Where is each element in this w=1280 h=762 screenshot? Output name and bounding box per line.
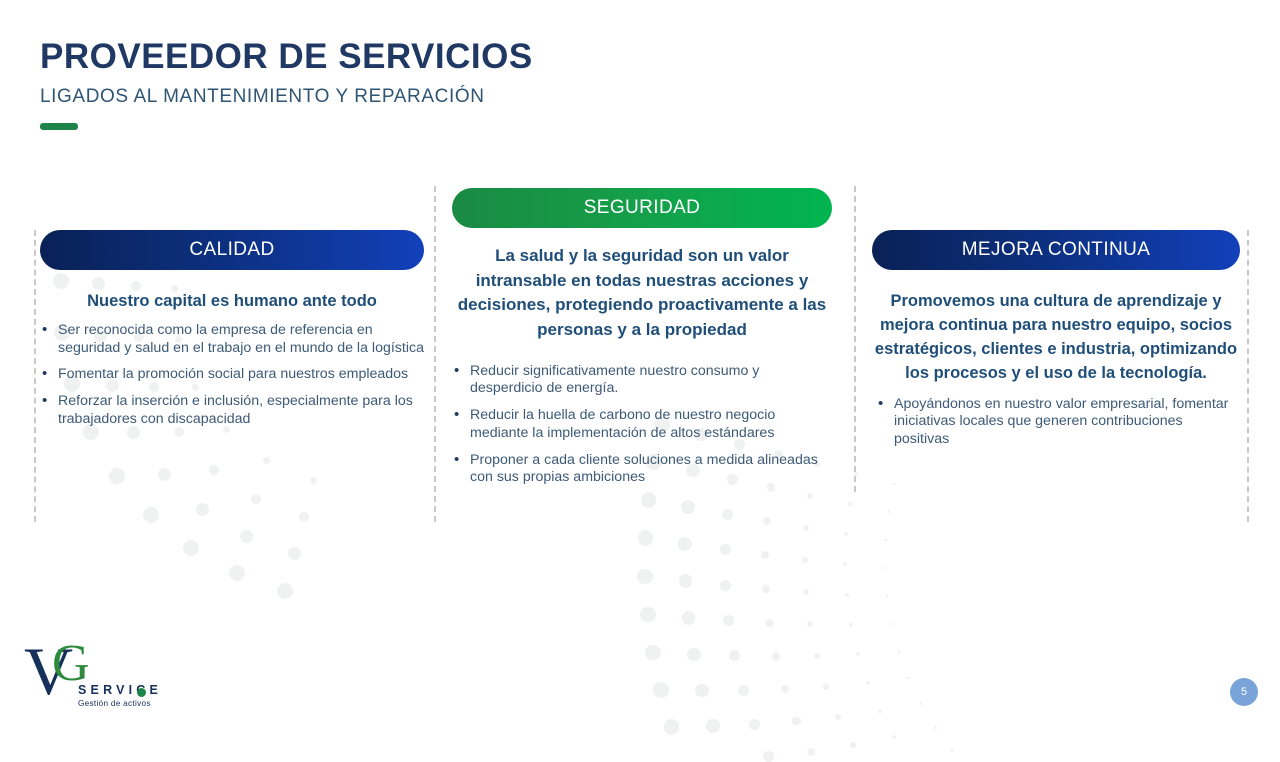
list-item: Apoyándonos en nuestro valor empresarial… bbox=[872, 396, 1240, 449]
bullet-list-seguridad: Reducir significativamente nuestro consu… bbox=[452, 363, 832, 488]
decorative-dot bbox=[845, 593, 849, 597]
bullet-list-mejora-continua: Apoyándonos en nuestro valor empresarial… bbox=[872, 396, 1240, 449]
bullet-list-calidad: Ser reconocida como la empresa de refere… bbox=[40, 322, 424, 429]
decorative-dot bbox=[263, 457, 270, 464]
list-item: Fomentar la promoción social para nuestr… bbox=[40, 366, 424, 384]
decorative-dot bbox=[823, 684, 829, 690]
decorative-dot bbox=[781, 685, 790, 694]
slide-header: PROVEEDOR DE SERVICIOS LIGADOS AL MANTEN… bbox=[40, 38, 533, 130]
decorative-dot bbox=[695, 684, 709, 698]
decorative-dot bbox=[653, 682, 669, 698]
decorative-dot bbox=[637, 569, 653, 585]
decorative-dot bbox=[720, 544, 731, 555]
decorative-dot bbox=[183, 540, 199, 556]
logo-service-text: SERVICE bbox=[78, 684, 162, 697]
logo-wordmark: SERVICE Gestión de activos bbox=[78, 684, 162, 708]
decorative-dot bbox=[682, 611, 696, 625]
decorative-dot bbox=[934, 726, 937, 729]
decorative-dot bbox=[850, 742, 856, 748]
pill-calidad[interactable]: CALIDAD bbox=[40, 230, 424, 270]
decorative-dot bbox=[878, 709, 882, 713]
decorative-dot bbox=[951, 749, 954, 752]
decorative-dot bbox=[849, 623, 853, 627]
decorative-dot bbox=[738, 685, 749, 696]
decorative-dot bbox=[807, 748, 816, 757]
decorative-dot bbox=[765, 619, 774, 628]
decorative-dot bbox=[907, 677, 910, 680]
page-subtitle: LIGADOS AL MANTENIMIENTO Y REPARACIÓN bbox=[40, 86, 533, 108]
divider-right bbox=[1247, 230, 1249, 522]
decorative-dot bbox=[679, 574, 693, 588]
decorative-dot bbox=[722, 509, 733, 520]
decorative-dot bbox=[687, 648, 701, 662]
decorative-dot bbox=[884, 539, 887, 542]
column-seguridad: SEGURIDAD La salud y la seguridad son un… bbox=[452, 188, 832, 496]
decorative-dot bbox=[681, 500, 695, 514]
page-number-badge: 5 bbox=[1230, 678, 1258, 706]
decorative-dot bbox=[884, 567, 887, 570]
decorative-dot bbox=[802, 557, 808, 563]
decorative-dot bbox=[645, 645, 661, 661]
pill-seguridad-label: SEGURIDAD bbox=[584, 197, 701, 219]
decorative-dot bbox=[209, 465, 219, 475]
column-mejora-continua: MEJORA CONTINUA Promovemos una cultura d… bbox=[872, 230, 1240, 458]
logo-tagline: Gestión de activos bbox=[78, 700, 162, 708]
decorative-dot bbox=[848, 502, 852, 506]
pill-mejora-continua[interactable]: MEJORA CONTINUA bbox=[872, 230, 1240, 270]
column-calidad: CALIDAD Nuestro capital es humano ante t… bbox=[40, 230, 424, 438]
decorative-dot bbox=[143, 507, 159, 523]
decorative-dot bbox=[229, 565, 245, 581]
divider-left bbox=[34, 230, 36, 522]
decorative-dot bbox=[240, 530, 253, 543]
lead-seguridad: La salud y la seguridad son un valor int… bbox=[452, 244, 832, 343]
decorative-dot bbox=[891, 623, 894, 626]
decorative-dot bbox=[835, 714, 841, 720]
decorative-dot bbox=[762, 585, 771, 594]
pill-calidad-label: CALIDAD bbox=[189, 239, 274, 261]
decorative-dot bbox=[856, 652, 860, 656]
decorative-dot bbox=[761, 551, 770, 560]
decorative-dot bbox=[772, 652, 781, 661]
decorative-dot bbox=[893, 483, 896, 486]
pill-seguridad[interactable]: SEGURIDAD bbox=[452, 188, 832, 228]
accent-bar bbox=[40, 123, 78, 130]
decorative-dot bbox=[109, 468, 125, 484]
decorative-dot bbox=[729, 650, 740, 661]
list-item: Reducir la huella de carbono de nuestro … bbox=[452, 407, 832, 443]
page-number: 5 bbox=[1241, 686, 1247, 698]
decorative-dot bbox=[866, 681, 870, 685]
decorative-dot bbox=[158, 468, 171, 481]
decorative-dot bbox=[723, 615, 734, 626]
list-item: Proponer a cada cliente soluciones a med… bbox=[452, 452, 832, 488]
decorative-dot bbox=[807, 621, 813, 627]
lead-calidad: Nuestro capital es humano ante todo bbox=[40, 290, 424, 314]
decorative-dot bbox=[763, 751, 774, 762]
list-item: Ser reconocida como la empresa de refere… bbox=[40, 322, 424, 358]
decorative-dot bbox=[792, 717, 801, 726]
logo-green-dot-icon bbox=[137, 688, 146, 697]
lead-mejora-continua: Promovemos una cultura de aprendizaje y … bbox=[872, 290, 1240, 386]
decorative-dot bbox=[299, 512, 309, 522]
decorative-dot bbox=[803, 589, 809, 595]
decorative-dot bbox=[706, 719, 720, 733]
divider-calidad-seguridad bbox=[434, 186, 436, 522]
divider-seguridad-mejora bbox=[854, 186, 856, 492]
decorative-dot bbox=[288, 547, 301, 560]
decorative-dot bbox=[844, 532, 848, 536]
decorative-dot bbox=[892, 735, 896, 739]
decorative-dot bbox=[664, 719, 680, 735]
decorative-dot bbox=[251, 494, 261, 504]
decorative-dot bbox=[920, 702, 923, 705]
slide-root: PROVEEDOR DE SERVICIOS LIGADOS AL MANTEN… bbox=[0, 0, 1280, 720]
decorative-dot bbox=[763, 517, 772, 526]
decorative-dot bbox=[310, 477, 317, 484]
decorative-dot bbox=[640, 607, 656, 623]
decorative-dot bbox=[196, 503, 209, 516]
decorative-dot bbox=[898, 650, 901, 653]
decorative-dot bbox=[749, 719, 760, 730]
list-item: Reducir significativamente nuestro consu… bbox=[452, 363, 832, 399]
decorative-dot bbox=[678, 537, 692, 551]
decorative-dot bbox=[888, 510, 891, 513]
decorative-dot bbox=[803, 525, 809, 531]
decorative-dot bbox=[277, 583, 293, 599]
decorative-dot bbox=[886, 595, 889, 598]
decorative-dot bbox=[720, 580, 731, 591]
list-item: Reforzar la inserción e inclusión, espec… bbox=[40, 393, 424, 429]
decorative-dot bbox=[814, 653, 820, 659]
page-title: PROVEEDOR DE SERVICIOS bbox=[40, 38, 533, 77]
pill-mejora-continua-label: MEJORA CONTINUA bbox=[962, 239, 1151, 261]
decorative-dot bbox=[843, 562, 847, 566]
decorative-dot bbox=[638, 530, 654, 546]
